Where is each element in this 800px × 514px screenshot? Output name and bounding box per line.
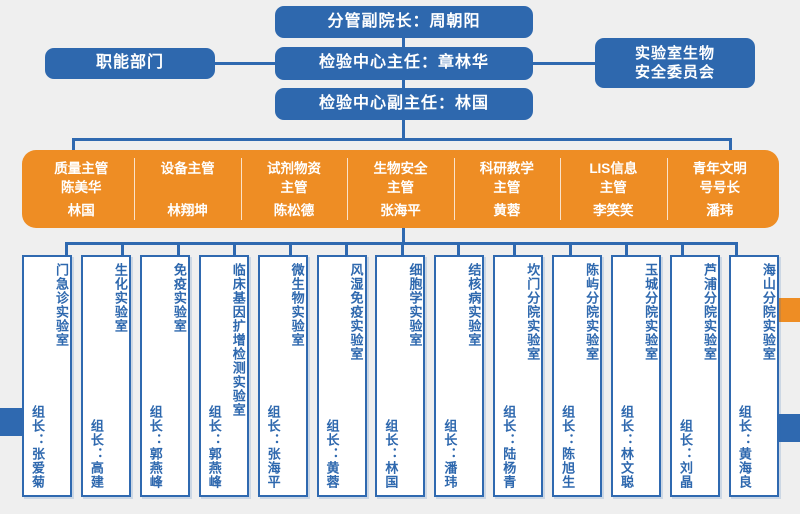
laboratory-leader: 组长：刘晶 <box>678 419 692 489</box>
supervisor-title: 科研教学主管 <box>480 159 534 197</box>
laboratory-name: 生化实验室 <box>113 263 127 333</box>
supervisor-name: 黄蓉 <box>493 201 520 224</box>
laboratory-row: 门急诊实验室组长：张爱菊生化实验室组长：高建免疫实验室组长：郭燕峰临床基因扩增检… <box>22 255 779 497</box>
laboratory-leader: 组长：高建 <box>89 419 103 489</box>
laboratory-name: 风湿免疫实验室 <box>349 263 363 361</box>
laboratory-name: 门急诊实验室 <box>54 263 68 347</box>
supervisor-title: 生物安全主管 <box>373 159 427 197</box>
node-functional-department[interactable]: 职能部门 <box>45 48 215 79</box>
node-vice-president[interactable]: 分管副院长：周朝阳 <box>275 6 533 38</box>
supervisor-name: 林国 <box>68 201 95 224</box>
node-lab-center-director[interactable]: 检验中心主任：章林华 <box>275 47 533 80</box>
laboratory-leader: 组长：郭燕峰 <box>148 405 162 489</box>
laboratory-name: 结核病实验室 <box>466 263 480 347</box>
laboratory-leader: 组长：陈旭生 <box>560 405 574 489</box>
connector-band-stem <box>402 228 405 242</box>
laboratory-leader: 组长：林文聪 <box>619 405 633 489</box>
supervisor-cell[interactable]: LIS信息主管李笑笑 <box>560 154 666 224</box>
supervisor-title: 试剂物资主管 <box>267 159 321 197</box>
laboratory-leader: 组长：陆杨青 <box>501 405 515 489</box>
biosafety-committee-line-1: 实验室生物 <box>635 44 715 63</box>
connector-lab-drop-1 <box>65 242 68 255</box>
connector-functional-to-director <box>215 62 275 65</box>
laboratory-box[interactable]: 生化实验室组长：高建 <box>81 255 131 497</box>
supervisor-cell[interactable]: 试剂物资主管陈松德 <box>241 154 347 224</box>
node-lab-center-deputy-director[interactable]: 检验中心副主任：林国 <box>275 88 533 120</box>
laboratory-box[interactable]: 结核病实验室组长：潘玮 <box>434 255 484 497</box>
supervisor-title: 设备主管 <box>161 159 215 178</box>
laboratory-box[interactable]: 细胞学实验室组长：林国 <box>375 255 425 497</box>
connector-lab-drop-10 <box>569 242 572 255</box>
connector-lab-drop-4 <box>233 242 236 255</box>
laboratory-box[interactable]: 玉城分院实验室组长：林文聪 <box>611 255 661 497</box>
laboratory-box[interactable]: 陈屿分院实验室组长：陈旭生 <box>552 255 602 497</box>
laboratory-box[interactable]: 临床基因扩增检测实验室组长：郭燕峰 <box>199 255 249 497</box>
supervisor-cell[interactable]: 生物安全主管张海平 <box>347 154 453 224</box>
laboratory-name: 微生物实验室 <box>290 263 304 347</box>
node-biosafety-committee[interactable]: 实验室生物 安全委员会 <box>595 38 755 88</box>
laboratory-name: 陈屿分院实验室 <box>584 263 598 361</box>
connector-lab-drop-13 <box>735 242 738 255</box>
laboratory-name: 细胞学实验室 <box>407 263 421 347</box>
supervisor-name: 陈松德 <box>274 201 315 224</box>
laboratory-box[interactable]: 微生物实验室组长：张海平 <box>258 255 308 497</box>
laboratory-name: 坎门分院实验室 <box>525 263 539 361</box>
connector-deputy-stem <box>402 120 405 138</box>
laboratory-box[interactable]: 芦浦分院实验室组长：刘晶 <box>670 255 720 497</box>
laboratory-box[interactable]: 海山分院实验室组长：黄海良 <box>729 255 779 497</box>
laboratory-leader: 组长：郭燕峰 <box>207 405 221 489</box>
laboratory-leader: 组长：黄蓉 <box>324 419 338 489</box>
laboratory-name: 海山分院实验室 <box>761 263 775 361</box>
laboratory-box[interactable]: 风湿免疫实验室组长：黄蓉 <box>317 255 367 497</box>
supervisor-cell[interactable]: 质量主管陈美华林国 <box>28 154 134 224</box>
connector-lab-drop-7 <box>401 242 404 255</box>
supervisor-title: 青年文明号号长 <box>693 159 747 197</box>
supervisor-cell[interactable]: 青年文明号号长潘玮 <box>667 154 773 224</box>
connector-lab-drop-11 <box>625 242 628 255</box>
laboratory-name: 免疫实验室 <box>172 263 186 333</box>
supervisor-name: 林翔坤 <box>167 201 208 224</box>
connector-lab-drop-6 <box>345 242 348 255</box>
connector-lab-drop-3 <box>177 242 180 255</box>
connector-lab-drop-8 <box>457 242 460 255</box>
laboratory-name: 临床基因扩增检测实验室 <box>231 263 245 417</box>
laboratory-name: 芦浦分院实验室 <box>702 263 716 361</box>
laboratory-box[interactable]: 坎门分院实验室组长：陆杨青 <box>493 255 543 497</box>
connector-director-to-committee <box>533 62 595 65</box>
connector-supervisor-bus <box>72 138 732 141</box>
org-chart-canvas: 分管副院长：周朝阳 职能部门 检验中心主任：章林华 实验室生物 安全委员会 检验… <box>0 0 800 514</box>
connector-director-to-deputy <box>402 80 405 88</box>
connector-lab-drop-2 <box>121 242 124 255</box>
laboratory-box[interactable]: 门急诊实验室组长：张爱菊 <box>22 255 72 497</box>
supervisor-name: 张海平 <box>380 201 421 224</box>
laboratory-name: 玉城分院实验室 <box>643 263 657 361</box>
supervisor-band: 质量主管陈美华林国设备主管林翔坤试剂物资主管陈松德生物安全主管张海平科研教学主管… <box>22 150 779 228</box>
bottom-edge-strip <box>0 506 800 514</box>
supervisor-cell[interactable]: 设备主管林翔坤 <box>134 154 240 224</box>
connector-lab-drop-9 <box>513 242 516 255</box>
supervisor-title: LIS信息主管 <box>589 159 637 197</box>
connector-lab-drop-5 <box>289 242 292 255</box>
laboratory-box[interactable]: 免疫实验室组长：郭燕峰 <box>140 255 190 497</box>
connector-lab-drop-12 <box>681 242 684 255</box>
laboratory-leader: 组长：黄海良 <box>737 405 751 489</box>
laboratory-leader: 组长：潘玮 <box>442 419 456 489</box>
biosafety-committee-line-2: 安全委员会 <box>635 63 715 82</box>
laboratory-leader: 组长：张海平 <box>266 405 280 489</box>
supervisor-name: 潘玮 <box>706 201 733 224</box>
laboratory-leader: 组长：林国 <box>383 419 397 489</box>
supervisor-cell[interactable]: 科研教学主管黄蓉 <box>454 154 560 224</box>
supervisor-name: 李笑笑 <box>593 201 634 224</box>
supervisor-title: 质量主管陈美华 <box>54 159 108 197</box>
laboratory-leader: 组长：张爱菊 <box>30 405 44 489</box>
